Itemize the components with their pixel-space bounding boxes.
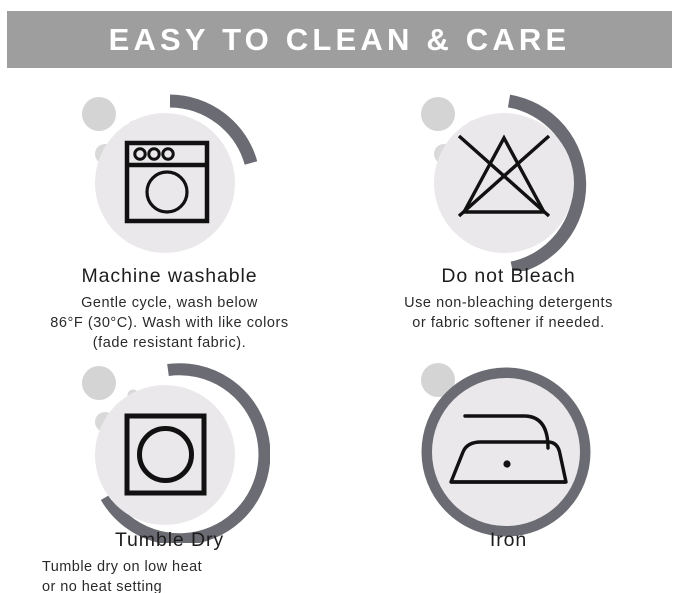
card-text-block: Do not Bleach Use non-bleaching detergen… <box>339 264 678 333</box>
card-text-block: Iron <box>339 528 678 557</box>
card-title: Machine washable <box>14 264 325 288</box>
iron-icon <box>409 358 609 543</box>
description-line: Gentle cycle, wash below <box>14 293 325 313</box>
care-card-tumble-dry: Tumble Dry Tumble dry on low heat or no … <box>0 358 339 593</box>
do-not-bleach-icon <box>409 86 609 271</box>
page-title: EASY TO CLEAN & CARE <box>109 24 571 55</box>
description-line: or no heat setting <box>42 577 325 593</box>
description-line: (fade resistant fabric). <box>14 333 325 353</box>
care-card-do-not-bleach: Do not Bleach Use non-bleaching detergen… <box>339 86 678 339</box>
care-symbol-grid: Machine washable Gentle cycle, wash belo… <box>0 86 679 593</box>
card-title: Tumble Dry <box>14 528 325 552</box>
description-line: Tumble dry on low heat <box>42 557 325 577</box>
description-line: Use non-bleaching detergents <box>353 293 664 313</box>
card-text-block: Machine washable Gentle cycle, wash belo… <box>0 264 339 353</box>
description-line: or fabric softener if needed. <box>353 313 664 333</box>
washing-machine-icon <box>70 86 270 271</box>
card-title: Do not Bleach <box>353 264 664 288</box>
header-banner: EASY TO CLEAN & CARE <box>7 11 672 68</box>
card-title: Iron <box>353 528 664 552</box>
card-text-block: Tumble Dry Tumble dry on low heat or no … <box>0 528 339 593</box>
care-card-iron: Iron <box>339 358 678 593</box>
care-instructions-page: EASY TO CLEAN & CARE <box>0 0 679 593</box>
tumble-dry-icon <box>70 358 270 543</box>
card-description: Gentle cycle, wash below 86°F (30°C). Wa… <box>14 293 325 353</box>
care-card-machine-washable: Machine washable Gentle cycle, wash belo… <box>0 86 339 339</box>
card-description: Tumble dry on low heat or no heat settin… <box>14 557 325 593</box>
description-line: 86°F (30°C). Wash with like colors <box>14 313 325 333</box>
card-description: Use non-bleaching detergents or fabric s… <box>353 293 664 333</box>
